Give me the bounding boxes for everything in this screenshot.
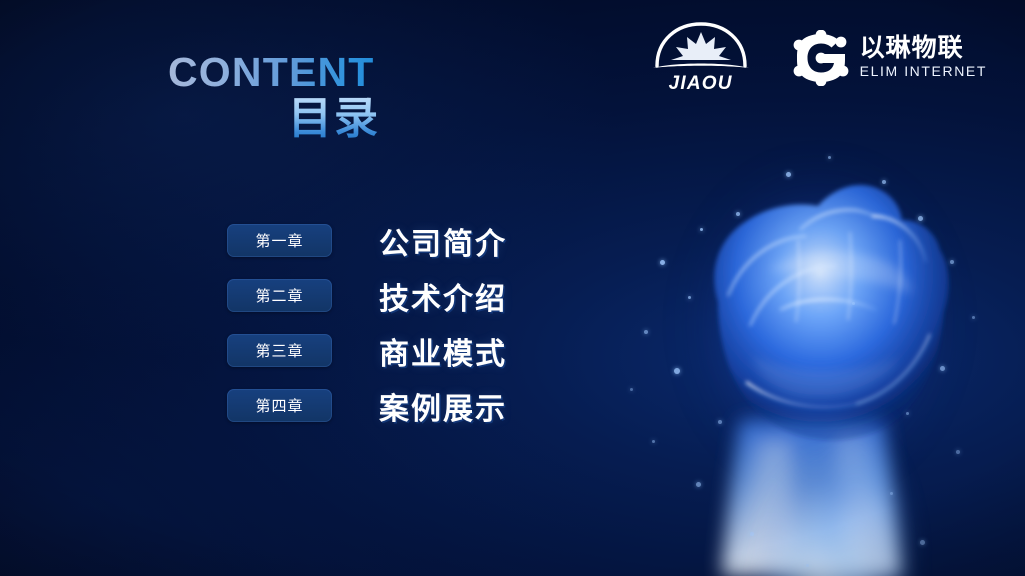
elim-name-english: ELIM INTERNET <box>860 63 987 80</box>
agenda-title-4[interactable]: 案例展示 <box>379 384 507 428</box>
logo-group: JIAOU 以琳物联 ELIM INTERNET <box>649 20 987 95</box>
agenda-item-4[interactable]: 第四章 案例展示 <box>227 389 507 422</box>
elim-name-chinese: 以琳物联 <box>860 35 987 61</box>
chapter-badge-1[interactable]: 第一章 <box>227 224 332 257</box>
chapter-label-4: 第四章 <box>255 395 303 416</box>
agenda-item-3[interactable]: 第三章 商业模式 <box>227 334 507 367</box>
chapter-label-3: 第三章 <box>255 340 303 361</box>
elim-logo: 以琳物联 ELIM INTERNET <box>793 30 987 86</box>
page-title: CONTENT 目录 <box>168 52 380 142</box>
chapter-badge-4[interactable]: 第四章 <box>227 389 332 422</box>
elim-text-block: 以琳物联 ELIM INTERNET <box>860 35 987 79</box>
agenda-title-3[interactable]: 商业模式 <box>379 329 507 373</box>
agenda-item-2[interactable]: 第二章 技术介绍 <box>227 279 507 312</box>
jiaou-wordmark: JIAOU <box>669 73 733 95</box>
chapter-badge-2[interactable]: 第二章 <box>227 279 332 312</box>
agenda-item-1[interactable]: 第一章 公司简介 <box>227 224 507 257</box>
presentation-slide: CONTENT 目录 JIAOU <box>0 0 1025 576</box>
chapter-label-2: 第二章 <box>255 285 303 306</box>
molecular-g-icon <box>793 30 849 86</box>
chapter-badge-3[interactable]: 第三章 <box>227 334 332 367</box>
title-chinese: 目录 <box>168 96 380 142</box>
chapter-label-1: 第一章 <box>255 230 303 251</box>
agenda-list: 第一章 公司简介 第二章 技术介绍 第三章 商业模式 第四章 案例展示 <box>227 224 507 422</box>
jiaou-logo: JIAOU <box>649 20 753 95</box>
agenda-title-2[interactable]: 技术介绍 <box>379 274 507 318</box>
arch-sunburst-icon <box>649 20 753 72</box>
agenda-title-1[interactable]: 公司简介 <box>379 219 507 263</box>
title-english: CONTENT <box>168 52 380 94</box>
